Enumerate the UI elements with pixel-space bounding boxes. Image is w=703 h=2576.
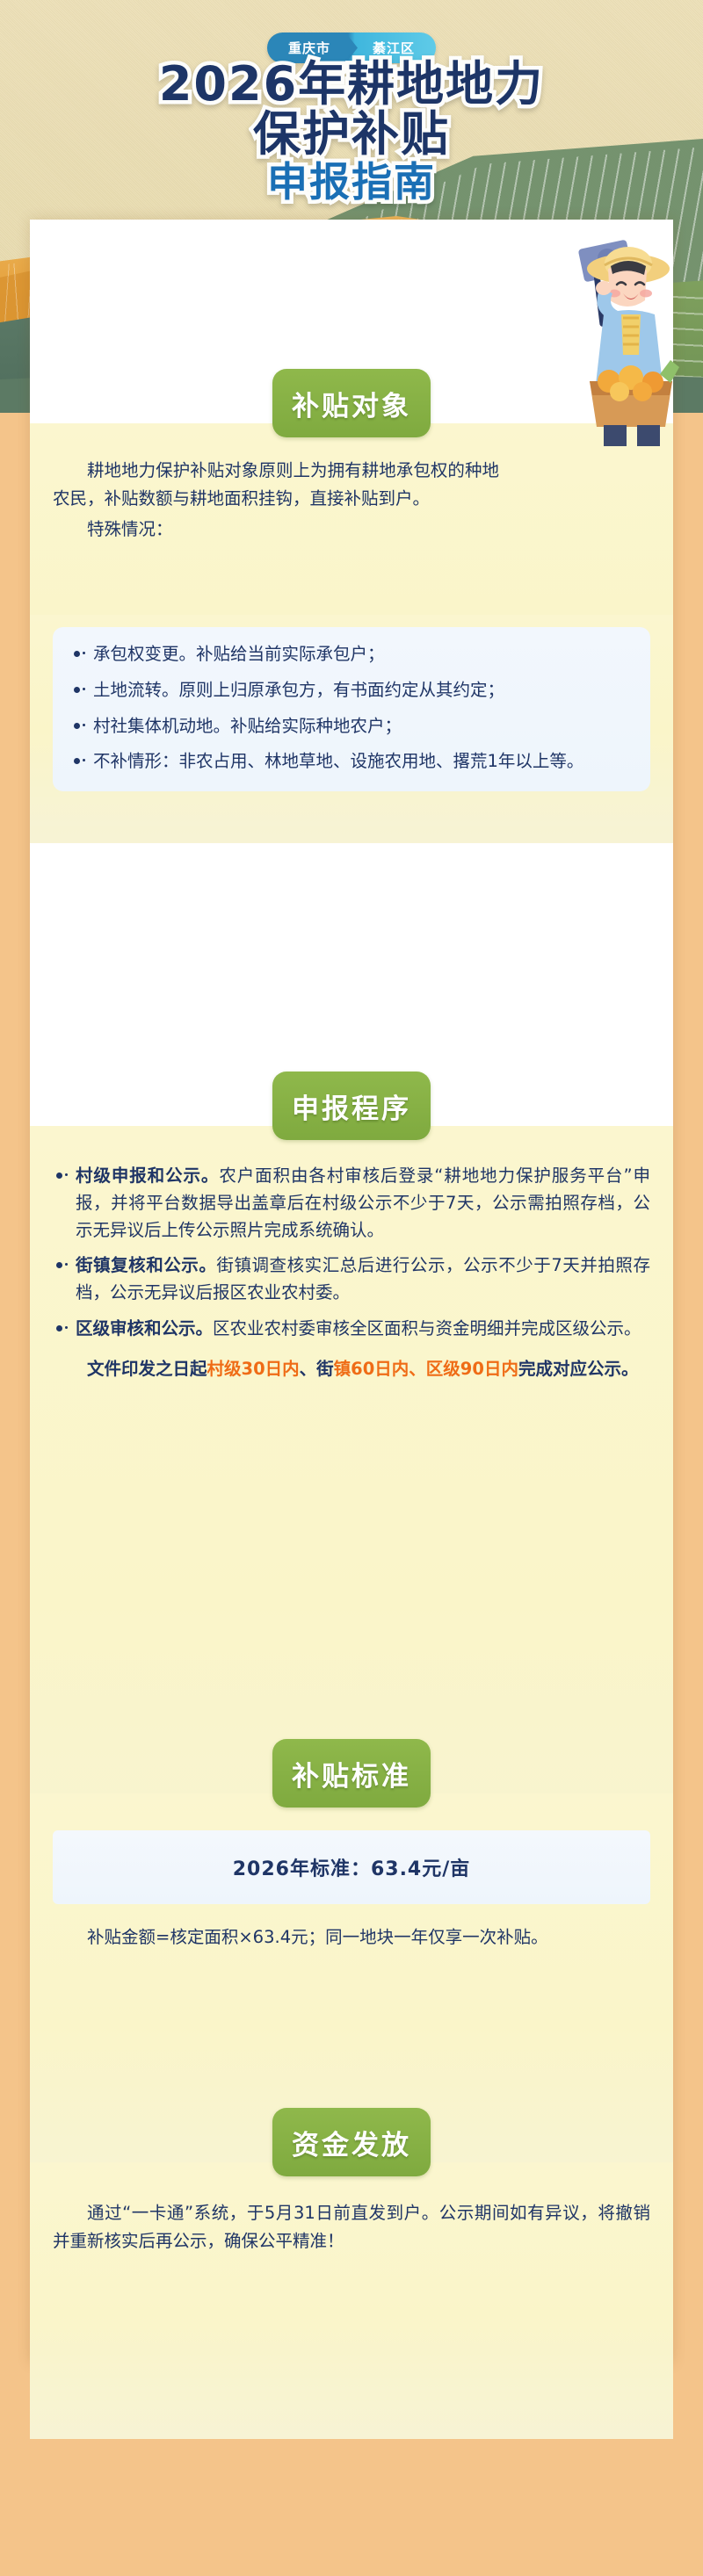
section-title-chip-application-procedure: 申报程序 — [272, 1072, 431, 1140]
section-body: 通过“一卡通”系统，于5月31日前直发到户。公示期间如有异议，将撤销并重新核实后… — [30, 2176, 673, 2255]
title-line-2: 保护补贴 — [0, 110, 703, 158]
section-body: 2026年标准：63.4元/亩 补贴金额=核定面积×63.4元；同一地块一年仅享… — [30, 1808, 673, 1952]
paragraph-special-cases-label: 特殊情况： — [53, 516, 499, 544]
section-title-text: 补贴对象 — [292, 384, 411, 423]
section-subsidy-standard: 补贴标准 2026年标准：63.4元/亩 补贴金额=核定面积×63.4元；同一地… — [30, 1739, 673, 1952]
section-fund-disbursement: 资金发放 通过“一卡通”系统，于5月31日前直发到户。公示期间如有异议，将撤销并… — [30, 2108, 673, 2255]
standard-rate-text: 2026年标准：63.4元/亩 — [233, 1858, 471, 1880]
list-item-town: 街镇复核和公示。街镇调查核实汇总后进行公示，公示不少于7天并拍照存档，公示无异议… — [53, 1252, 650, 1307]
paragraph-formula: 补贴金额=核定面积×63.4元；同一地块一年仅享一次补贴。 — [53, 1923, 650, 1952]
section-title-chip-fund-disbursement: 资金发放 — [272, 2108, 431, 2176]
note-part: 、街 — [300, 1359, 334, 1379]
step-lead: 村级申报和公示。 — [76, 1165, 219, 1186]
deadline-note: 文件印发之日起村级30日内、街镇60日内、区级90日内完成对应公示。 — [53, 1355, 650, 1382]
section-body: 村级申报和公示。农户面积由各村审核后登录“耕地地力保护服务平台”申报，并将平台数… — [30, 1140, 673, 1382]
list-item-district: 区级审核和公示。区农业农村委审核全区面积与资金明细并完成区级公示。 — [53, 1316, 650, 1343]
list-item-village: 村级申报和公示。农户面积由各村审核后登录“耕地地力保护服务平台”申报，并将平台数… — [53, 1163, 650, 1244]
paragraph-payout: 通过“一卡通”系统，于5月31日前直发到户。公示期间如有异议，将撤销并重新核实后… — [53, 2199, 650, 2255]
bullets-wrapper: 承包权变更。补贴给当前实际承包户； 土地流转。原则上归原承包方，有书面约定从其约… — [30, 615, 673, 791]
note-part-highlight: 镇60日内、区级90日内 — [334, 1359, 518, 1379]
standard-rate-box: 2026年标准：63.4元/亩 — [53, 1830, 650, 1904]
step-lead: 街镇复核和公示。 — [76, 1255, 216, 1275]
bullet-card: 承包权变更。补贴给当前实际承包户； 土地流转。原则上归原承包方，有书面约定从其约… — [53, 627, 650, 791]
section-body: 耕地地力保护补贴对象原则上为拥有耕地承包权的种地农民，补贴数额与耕地面积挂钩，直… — [30, 437, 522, 544]
procedure-list: 村级申报和公示。农户面积由各村审核后登录“耕地地力保护服务平台”申报，并将平台数… — [53, 1163, 650, 1343]
section-title-chip-subsidy-target: 补贴对象 — [272, 369, 431, 437]
region-city-label: 重庆市 — [267, 39, 351, 57]
farmer-illustration — [505, 227, 694, 446]
list-item: 承包权变更。补贴给当前实际承包户； — [70, 641, 633, 668]
bullet-list: 承包权变更。补贴给当前实际承包户； 土地流转。原则上归原承包方，有书面约定从其约… — [70, 641, 633, 776]
paragraph: 耕地地力保护补贴对象原则上为拥有耕地承包权的种地农民，补贴数额与耕地面积挂钩，直… — [53, 457, 499, 512]
region-district-label: 綦江区 — [351, 39, 436, 57]
list-item: 村社集体机动地。补贴给实际种地农户； — [70, 713, 633, 740]
section-title-text: 补贴标准 — [292, 1754, 411, 1793]
list-item: 不补情形：非农占用、林地草地、设施农用地、撂荒1年以上等。 — [70, 748, 633, 776]
note-part: 文件印发之日起 — [87, 1359, 207, 1379]
note-part: 完成对应公示。 — [518, 1359, 639, 1379]
section-title-text: 申报程序 — [292, 1086, 411, 1126]
section-subsidy-target-bullets: 承包权变更。补贴给当前实际承包户； 土地流转。原则上归原承包方，有书面约定从其约… — [30, 615, 673, 791]
section-title-text: 资金发放 — [292, 2123, 411, 2162]
title-line-1: 2026年耕地地力 — [0, 60, 703, 108]
step-rest: 区农业农村委审核全区面积与资金明细并完成区级公示。 — [213, 1318, 641, 1339]
page-title: 2026年耕地地力 保护补贴 申报指南 — [0, 60, 703, 203]
list-item: 土地流转。原则上归原承包方，有书面约定从其约定； — [70, 677, 633, 704]
section-title-chip-subsidy-standard: 补贴标准 — [272, 1739, 431, 1808]
note-part-highlight: 村级30日内 — [207, 1359, 300, 1379]
step-lead: 区级审核和公示。 — [76, 1318, 213, 1339]
section-application-procedure: 申报程序 村级申报和公示。农户面积由各村审核后登录“耕地地力保护服务平台”申报，… — [30, 1072, 673, 1382]
title-line-3: 申报指南 — [0, 162, 703, 203]
